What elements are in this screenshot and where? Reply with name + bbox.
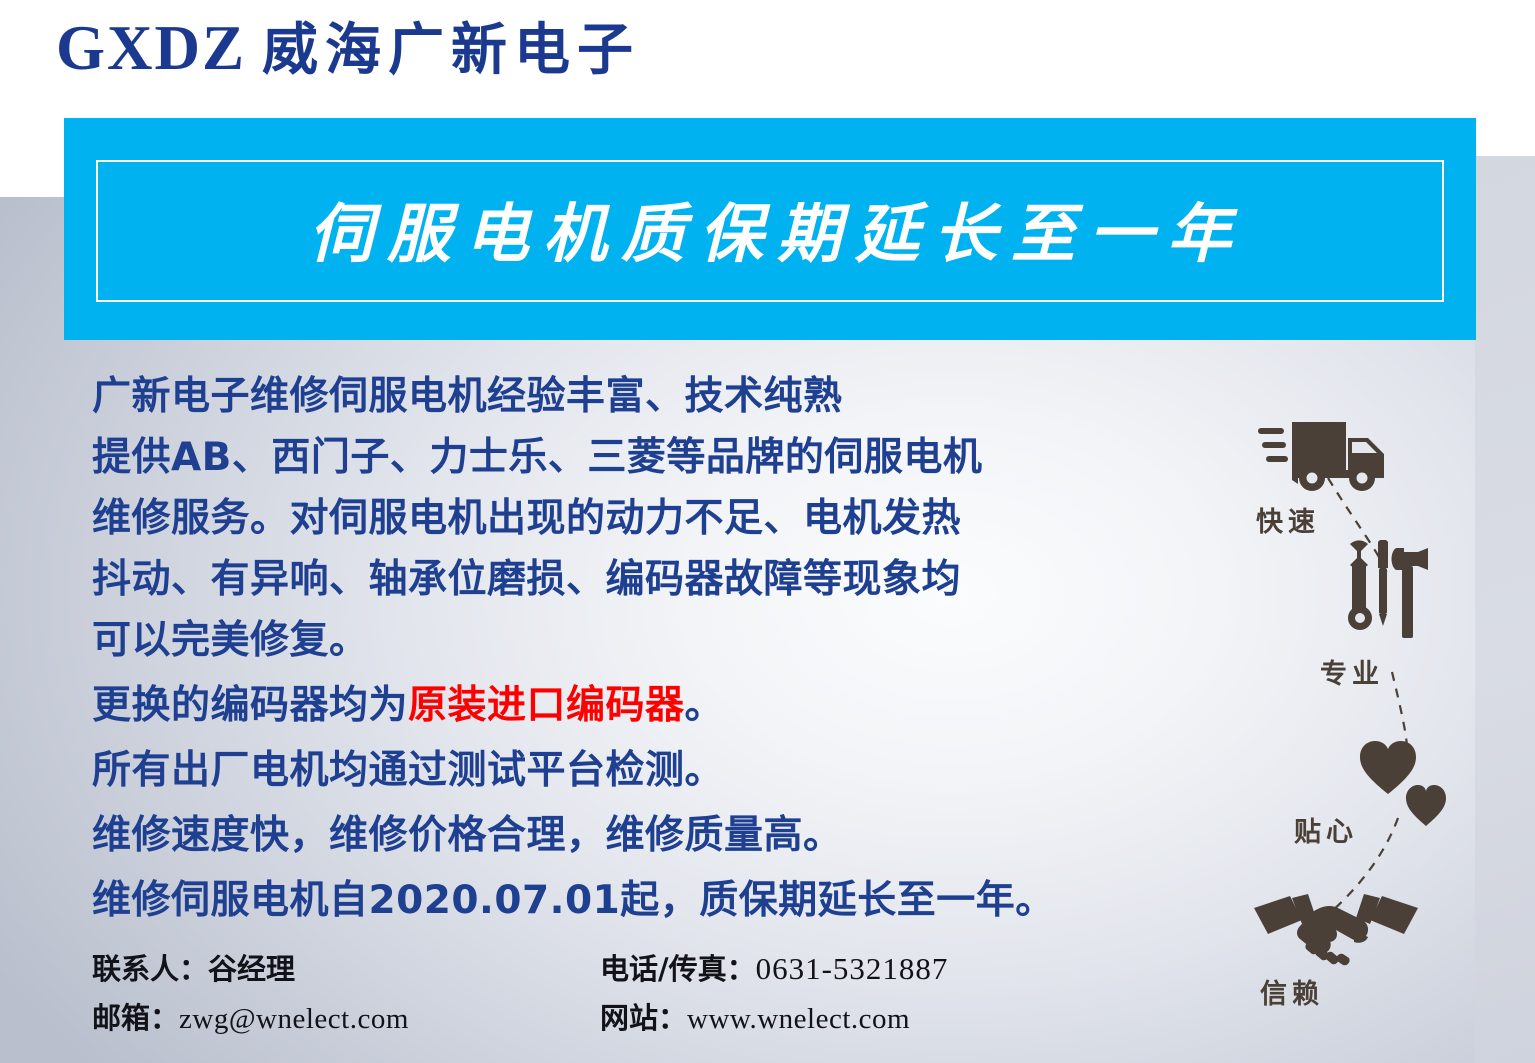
contact-website: 网站：www.wnelect.com: [600, 995, 910, 1037]
contact-email-value[interactable]: zwg@wnelect.com: [179, 1003, 409, 1035]
contact-person-label: 联系人：: [92, 952, 208, 986]
body-line-2: 提供AB、西门子、力士乐、三菱等品牌的伺服电机: [92, 427, 1182, 488]
contact-row-1: 联系人：谷经理 电话/传真：0631-5321887: [92, 946, 1092, 995]
feature-label-professional: 专业: [1320, 652, 1384, 691]
contact-email: 邮箱：zwg@wnelect.com: [92, 995, 409, 1037]
company-logo-abbreviation: GXDZ: [56, 17, 246, 80]
body-line-encoder: 更换的编码器均为原装进口编码器。: [92, 675, 1182, 736]
body-line-1: 广新电子维修伺服电机经验丰富、技术纯熟: [92, 366, 1182, 427]
handshake-icon: [1250, 890, 1422, 970]
background-gradient-right-strip: [1475, 156, 1535, 1063]
encoder-suffix-text: 。: [685, 683, 725, 728]
body-line-testing: 所有出厂电机均通过测试平台检测。: [92, 740, 1182, 801]
truck-icon: [1248, 414, 1388, 500]
contact-person: 联系人：谷经理: [92, 946, 295, 988]
body-line-quality: 维修速度快，维修价格合理，维修质量高。: [92, 805, 1182, 866]
contact-phone-label: 电话/传真：: [600, 952, 756, 986]
contact-email-label: 邮箱：: [92, 1001, 179, 1035]
contact-block: 联系人：谷经理 电话/传真：0631-5321887 邮箱：zwg@wnelec…: [92, 946, 1092, 1044]
feature-item-trust: 信赖: [1250, 890, 1422, 970]
contact-person-value: 谷经理: [208, 952, 295, 986]
encoder-highlight-text: 原装进口编码器: [408, 683, 685, 728]
contact-row-2: 邮箱：zwg@wnelect.com 网站：www.wnelect.com: [92, 995, 1092, 1044]
encoder-prefix-text: 更换的编码器均为: [92, 683, 408, 728]
body-copy-block: 广新电子维修伺服电机经验丰富、技术纯熟 提供AB、西门子、力士乐、三菱等品牌的伺…: [92, 366, 1182, 931]
body-line-3: 维修服务。对伺服电机出现的动力不足、电机发热: [92, 488, 1182, 549]
body-line-4: 抖动、有异响、轴承位磨损、编码器故障等现象均: [92, 549, 1182, 610]
contact-phone: 电话/传真：0631-5321887: [600, 946, 948, 988]
body-line-warranty: 维修伺服电机自2020.07.01起，质保期延长至一年。: [92, 870, 1182, 931]
tools-icon: [1338, 540, 1430, 646]
banner-title-text: 伺服电机质保期延长至一年: [64, 118, 1476, 340]
header-bar: GXDZ 威海广新电子: [0, 0, 1535, 118]
feature-icon-column: 快速: [1210, 400, 1460, 1020]
headline-banner: 伺服电机质保期延长至一年: [64, 118, 1476, 340]
company-name-chinese: 威海广新电子: [262, 20, 640, 82]
feature-item-considerate: 贴心: [1358, 738, 1450, 828]
contact-website-label: 网站：: [600, 1001, 687, 1035]
feature-label-considerate: 贴心: [1294, 810, 1358, 849]
feature-label-trust: 信赖: [1260, 972, 1324, 1011]
contact-website-value[interactable]: www.wnelect.com: [687, 1003, 910, 1035]
feature-label-fast: 快速: [1256, 500, 1320, 539]
contact-phone-value[interactable]: 0631-5321887: [756, 951, 949, 986]
hearts-icon: [1358, 738, 1450, 828]
feature-item-fast: 快速: [1248, 414, 1388, 500]
poster-root: GXDZ 威海广新电子 伺服电机质保期延长至一年 广新电子维修伺服电机经验丰富、…: [0, 0, 1535, 1063]
body-line-5: 可以完美修复。: [92, 610, 1182, 671]
feature-item-professional: 专业: [1338, 540, 1430, 646]
